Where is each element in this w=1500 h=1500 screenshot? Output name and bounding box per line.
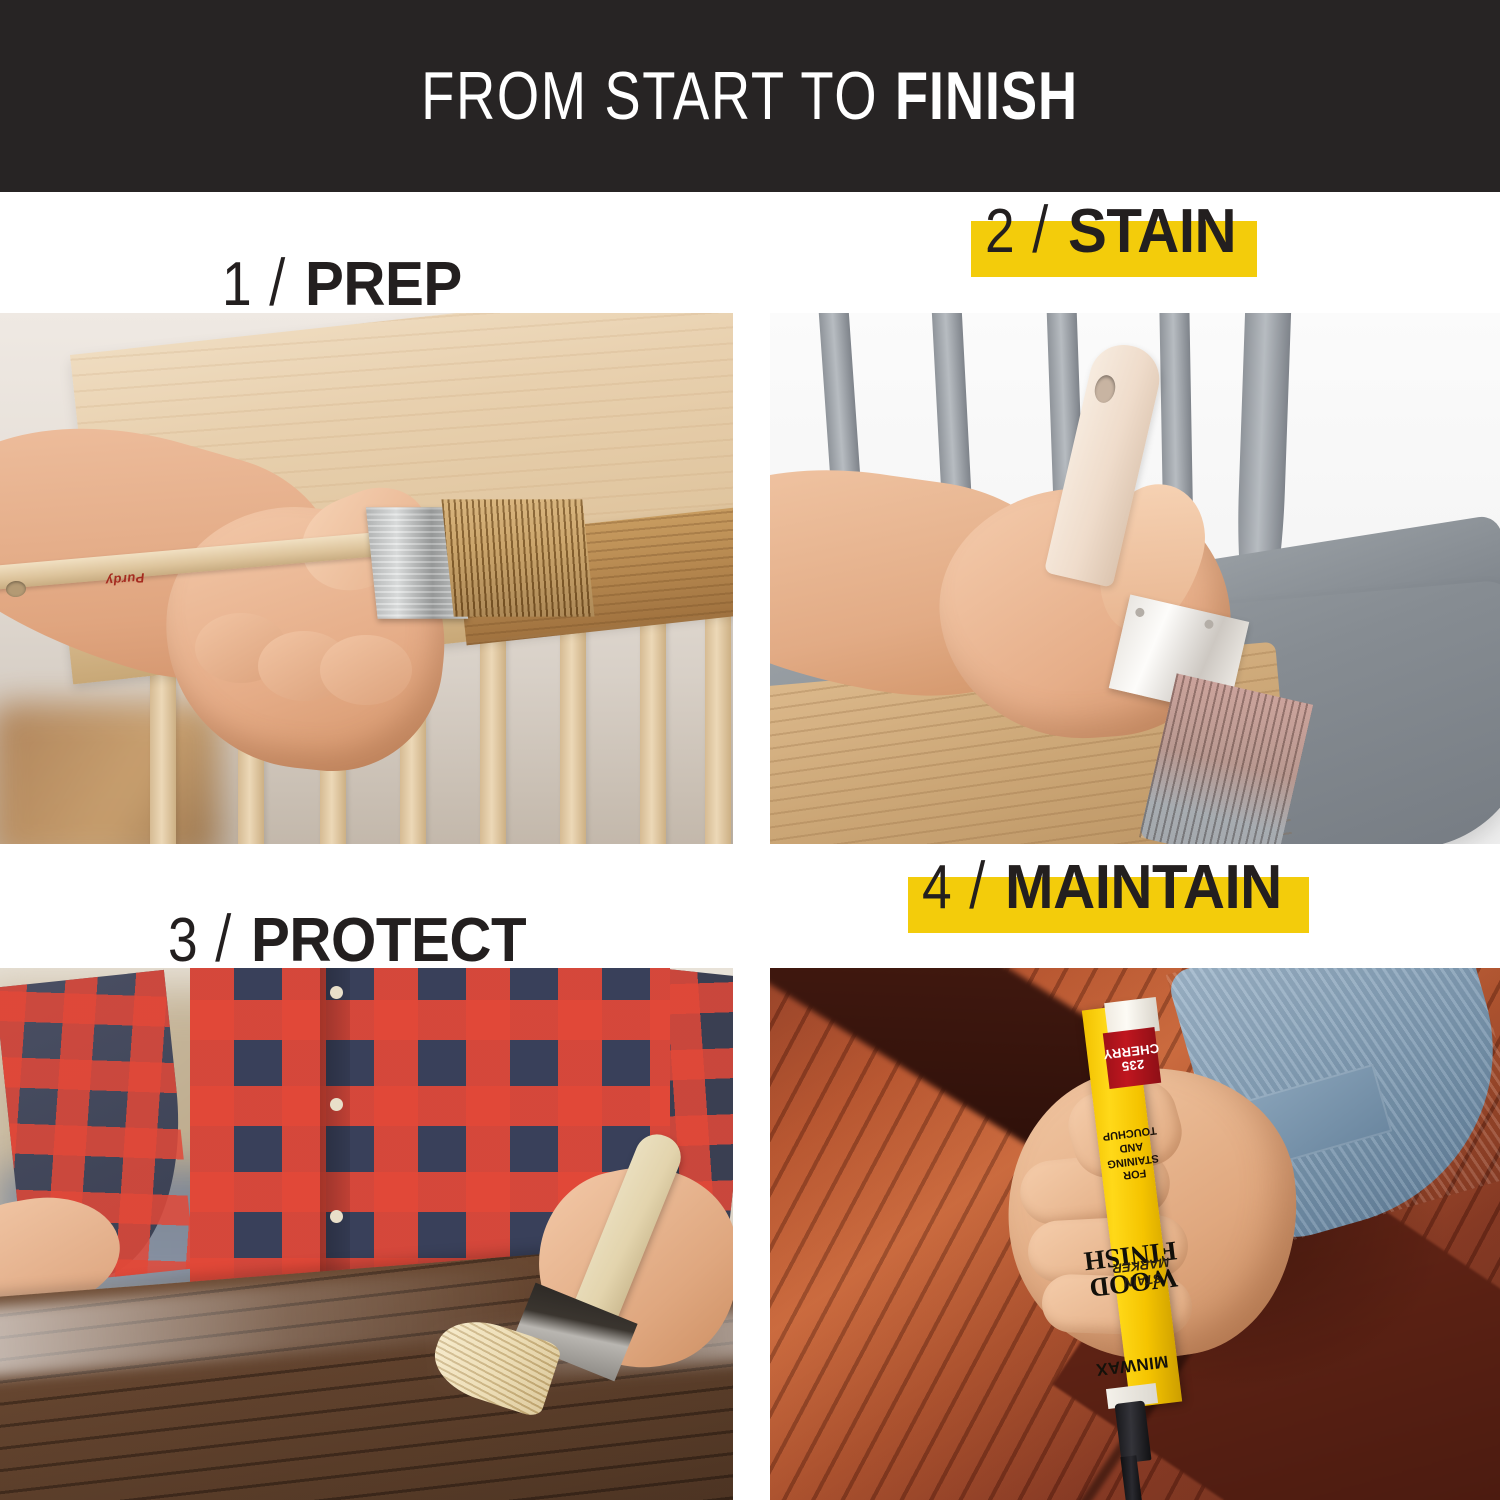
step-separator-4: / — [969, 852, 986, 918]
page-title-bold: FINISH — [895, 58, 1078, 134]
step-word-protect: PROTECT — [251, 910, 526, 972]
step-separator-1: / — [269, 249, 286, 315]
step-word-stain: STAIN — [1068, 201, 1236, 263]
step-word-prep: PREP — [305, 254, 462, 316]
step-separator-2: / — [1032, 196, 1049, 262]
step-word-maintain: MAINTAIN — [1005, 857, 1282, 919]
step-labels-row-2: 3 / PROTECT 4 / MAINTAIN — [0, 852, 1500, 972]
marker-brand: MINWAX — [1102, 1343, 1162, 1388]
marker-use-text: FOR STAINING AND TOUCHUP — [1102, 1113, 1163, 1193]
step-number-1: 1 — [222, 254, 252, 316]
maintain-photo: 235 CHERRY FOR STAINING AND TOUCHUP WOOD… — [770, 968, 1500, 1500]
page-title-light: FROM START TO — [422, 58, 896, 134]
step-label-stain: 2 / STAIN — [985, 196, 1247, 263]
step-labels-row-1: 1 / PREP 2 / STAIN — [0, 196, 1500, 316]
step-number-3: 3 — [168, 910, 198, 972]
stain-photo — [770, 313, 1500, 844]
page-title: FROM START TO FINISH — [422, 57, 1079, 135]
step-label-prep: 1 / PREP — [222, 249, 472, 316]
step-number-2: 2 — [985, 201, 1015, 263]
infographic-page: FROM START TO FINISH — [0, 0, 1500, 1500]
marker-color-code: 235 CHERRY — [1103, 1031, 1160, 1085]
step-separator-3: / — [215, 905, 232, 971]
header-banner: FROM START TO FINISH — [0, 0, 1500, 192]
step-number-4: 4 — [922, 857, 952, 919]
step-label-protect: 3 / PROTECT — [168, 905, 544, 972]
protect-photo — [0, 968, 733, 1500]
prep-photo: Purdy — [0, 313, 733, 844]
step-label-maintain: 4 / MAINTAIN — [922, 852, 1299, 919]
